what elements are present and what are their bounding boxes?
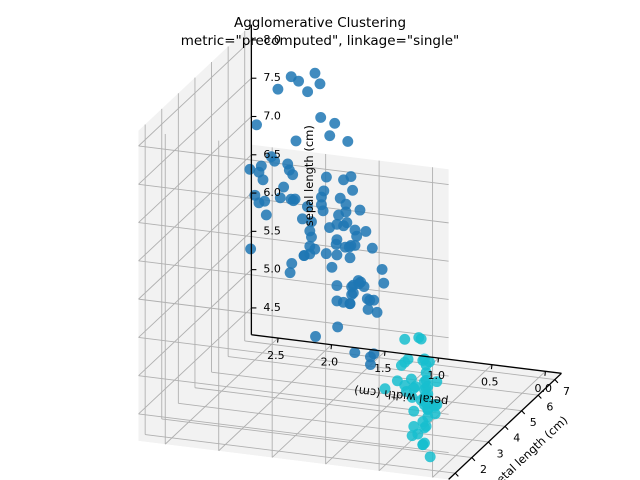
scatter-point (321, 248, 332, 259)
scatter-point (315, 112, 326, 123)
scatter-point (293, 76, 304, 87)
scatter-point (282, 159, 293, 170)
scatter-point (377, 264, 388, 275)
scatter-point (338, 297, 349, 308)
scatter-point (331, 250, 342, 261)
scatter-point (345, 171, 356, 182)
x-tick-label: 5 (530, 416, 537, 429)
scatter-point (350, 225, 361, 236)
scatter-point (396, 360, 407, 371)
scatter-point (321, 172, 332, 183)
y-tick-label: 1.5 (374, 362, 392, 375)
scatter-point (310, 68, 321, 79)
scatter3d-axes: 12345670.00.51.01.52.02.54.55.05.56.06.5… (0, 0, 640, 480)
scatter-point (291, 135, 302, 146)
z-tick-label: 6.0 (263, 186, 281, 199)
scatter-point (304, 241, 315, 252)
scatter-point (350, 240, 361, 251)
x-tick-label: 2 (480, 463, 487, 476)
z-tick-label: 4.5 (263, 301, 281, 314)
scatter-point (302, 86, 313, 97)
scatter-point (416, 334, 427, 345)
scatter-point (261, 210, 272, 221)
scatter-point (408, 406, 419, 417)
scatter-point (332, 321, 343, 332)
scatter-point (360, 226, 371, 237)
scatter-point (372, 307, 383, 318)
scatter-point (399, 334, 410, 345)
scatter-point (245, 243, 256, 254)
scatter-point (378, 278, 389, 289)
scatter-point (272, 84, 283, 95)
scatter-point (331, 234, 342, 245)
z-tick-label: 6.5 (263, 148, 281, 161)
y-tick-label: 1.0 (428, 369, 446, 382)
scatter-point (367, 243, 378, 254)
scatter-point (256, 161, 267, 172)
x-tick-label: 4 (513, 432, 520, 445)
scatter-point (331, 280, 342, 291)
x-tick-label: 6 (546, 401, 553, 414)
scatter-point (368, 295, 379, 306)
scatter-point (285, 267, 296, 278)
scatter-point (329, 118, 340, 129)
scatter-point (341, 199, 352, 210)
scatter-point (425, 451, 436, 462)
y-tick-label: 2.5 (267, 349, 285, 362)
y-tick-label: 0.5 (481, 376, 499, 389)
z-tick-label: 7.5 (263, 71, 281, 84)
scatter-point (417, 416, 428, 427)
scatter-point (251, 119, 262, 130)
scatter-point (412, 429, 423, 440)
chart-title-line-2: metric="precomputed", linkage="single" (0, 32, 640, 50)
scatter-point (318, 185, 329, 196)
scatter-point (355, 205, 366, 216)
figure-canvas: Agglomerative Clustering metric="precomp… (0, 0, 640, 480)
scatter-point (310, 331, 321, 342)
scatter-point (315, 78, 326, 89)
scatter-point (354, 278, 365, 289)
scatter-point (288, 195, 299, 206)
z-axis-label: sepal length (cm) (302, 125, 316, 226)
scatter-point (286, 258, 297, 269)
scatter-point (365, 351, 376, 362)
scatter-point (324, 130, 335, 141)
y-tick-label: 2.0 (321, 356, 339, 369)
scatter-point (345, 252, 356, 263)
x-tick-label: 7 (563, 385, 570, 398)
z-tick-label: 5.0 (263, 263, 281, 276)
scatter-point (326, 262, 337, 273)
chart-title: Agglomerative Clustering metric="precomp… (0, 14, 640, 50)
scatter-point (342, 136, 353, 147)
scatter-point (258, 174, 269, 185)
y-tick-label: 0.0 (534, 382, 552, 395)
chart-title-line-1: Agglomerative Clustering (0, 14, 640, 32)
scatter-point (347, 185, 358, 196)
z-tick-label: 7.0 (263, 110, 281, 123)
scatter-point (331, 219, 342, 230)
scatter-point (349, 347, 360, 358)
scatter-point (417, 439, 428, 450)
z-tick-label: 5.5 (263, 224, 281, 237)
x-tick-label: 3 (497, 447, 504, 460)
